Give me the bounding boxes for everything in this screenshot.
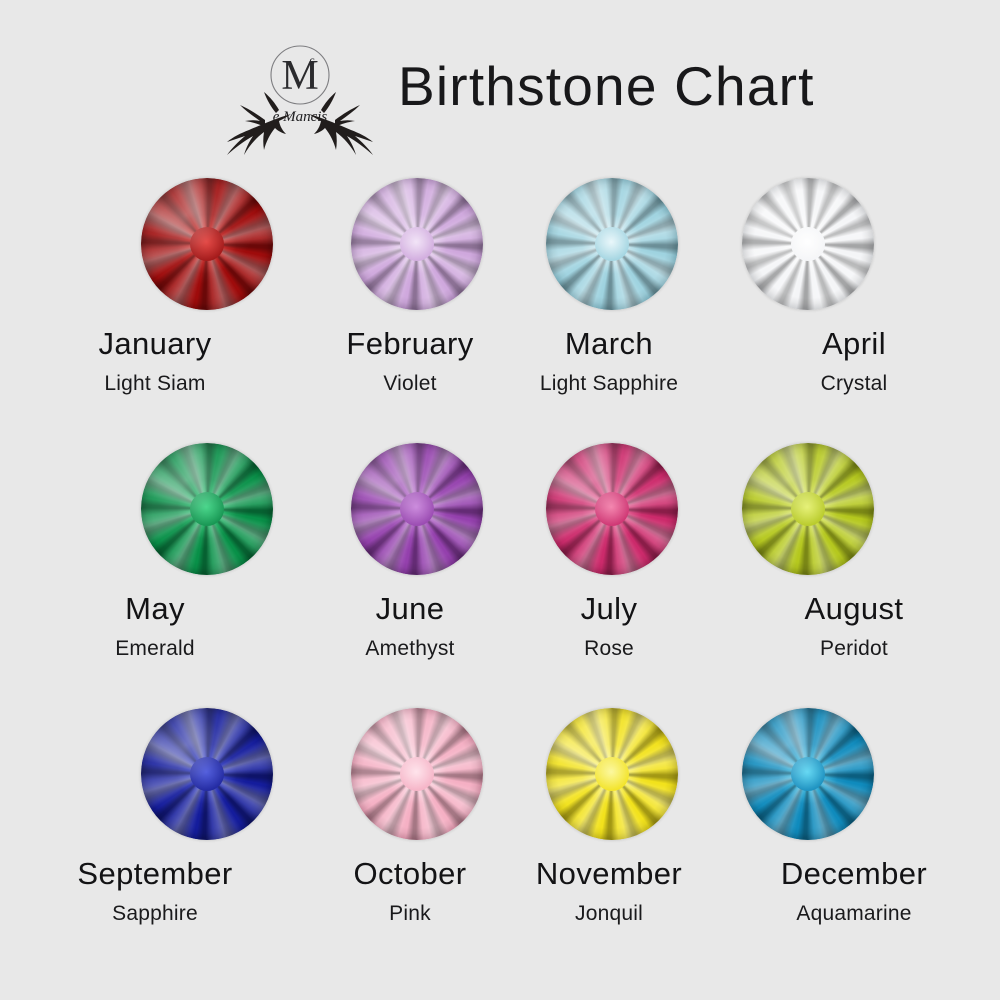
birthstone-row: May Emerald June Amethyst July Rose Augu… xyxy=(0,435,1000,700)
month-label: March xyxy=(510,326,708,362)
gem-april xyxy=(742,178,874,310)
birthstone-cell-january: January Light Siam xyxy=(0,170,310,435)
month-label: June xyxy=(310,591,510,627)
month-label: August xyxy=(708,591,1000,627)
birthstone-cell-august: August Peridot xyxy=(708,435,1000,700)
month-label: February xyxy=(310,326,510,362)
page-title: Birthstone Chart xyxy=(398,54,815,118)
birthstone-cell-july: July Rose xyxy=(510,435,708,700)
birthstone-cell-may: May Emerald xyxy=(0,435,310,700)
gem-march xyxy=(546,178,678,310)
month-label: September xyxy=(0,856,310,892)
month-label: April xyxy=(708,326,1000,362)
birthstone-cell-september: September Sapphire xyxy=(0,700,310,965)
birthstone-cell-december: December Aquamarine xyxy=(708,700,1000,965)
month-label: May xyxy=(0,591,310,627)
month-label: December xyxy=(708,856,1000,892)
birthstone-grid: January Light Siam February Violet March… xyxy=(0,170,1000,1000)
birthstone-cell-april: April Crystal xyxy=(708,170,1000,435)
stone-label: Crystal xyxy=(708,372,1000,396)
svg-text:e Mancis: e Mancis xyxy=(273,109,328,125)
gem-june xyxy=(351,443,483,575)
gem-january xyxy=(141,178,273,310)
stone-label: Light Siam xyxy=(0,372,310,396)
month-label: January xyxy=(0,326,310,362)
gem-july xyxy=(546,443,678,575)
stone-label: Light Sapphire xyxy=(510,372,708,396)
month-label: November xyxy=(510,856,708,892)
birthstone-cell-march: March Light Sapphire xyxy=(510,170,708,435)
month-label: October xyxy=(310,856,510,892)
birthstone-cell-october: October Pink xyxy=(310,700,510,965)
stone-label: Emerald xyxy=(0,637,310,661)
gem-september xyxy=(141,708,273,840)
gem-october xyxy=(351,708,483,840)
birthstone-cell-february: February Violet xyxy=(310,170,510,435)
gem-november xyxy=(546,708,678,840)
chart-header: M c e Mancis Birthstone Chart xyxy=(0,0,1000,170)
svg-text:c: c xyxy=(309,53,314,67)
birthstone-row: January Light Siam February Violet March… xyxy=(0,170,1000,435)
gem-february xyxy=(351,178,483,310)
stone-label: Jonquil xyxy=(510,902,708,926)
antlers-monogram-logo-icon: M c e Mancis xyxy=(205,40,395,165)
stone-label: Peridot xyxy=(708,637,1000,661)
stone-label: Violet xyxy=(310,372,510,396)
stone-label: Aquamarine xyxy=(708,902,1000,926)
gem-may xyxy=(141,443,273,575)
stone-label: Amethyst xyxy=(310,637,510,661)
brand-logo: M c e Mancis xyxy=(205,40,395,165)
gem-december xyxy=(742,708,874,840)
gem-august xyxy=(742,443,874,575)
stone-label: Rose xyxy=(510,637,708,661)
birthstone-cell-november: November Jonquil xyxy=(510,700,708,965)
stone-label: Pink xyxy=(310,902,510,926)
birthstone-row: September Sapphire October Pink November… xyxy=(0,700,1000,965)
month-label: July xyxy=(510,591,708,627)
birthstone-cell-june: June Amethyst xyxy=(310,435,510,700)
stone-label: Sapphire xyxy=(0,902,310,926)
